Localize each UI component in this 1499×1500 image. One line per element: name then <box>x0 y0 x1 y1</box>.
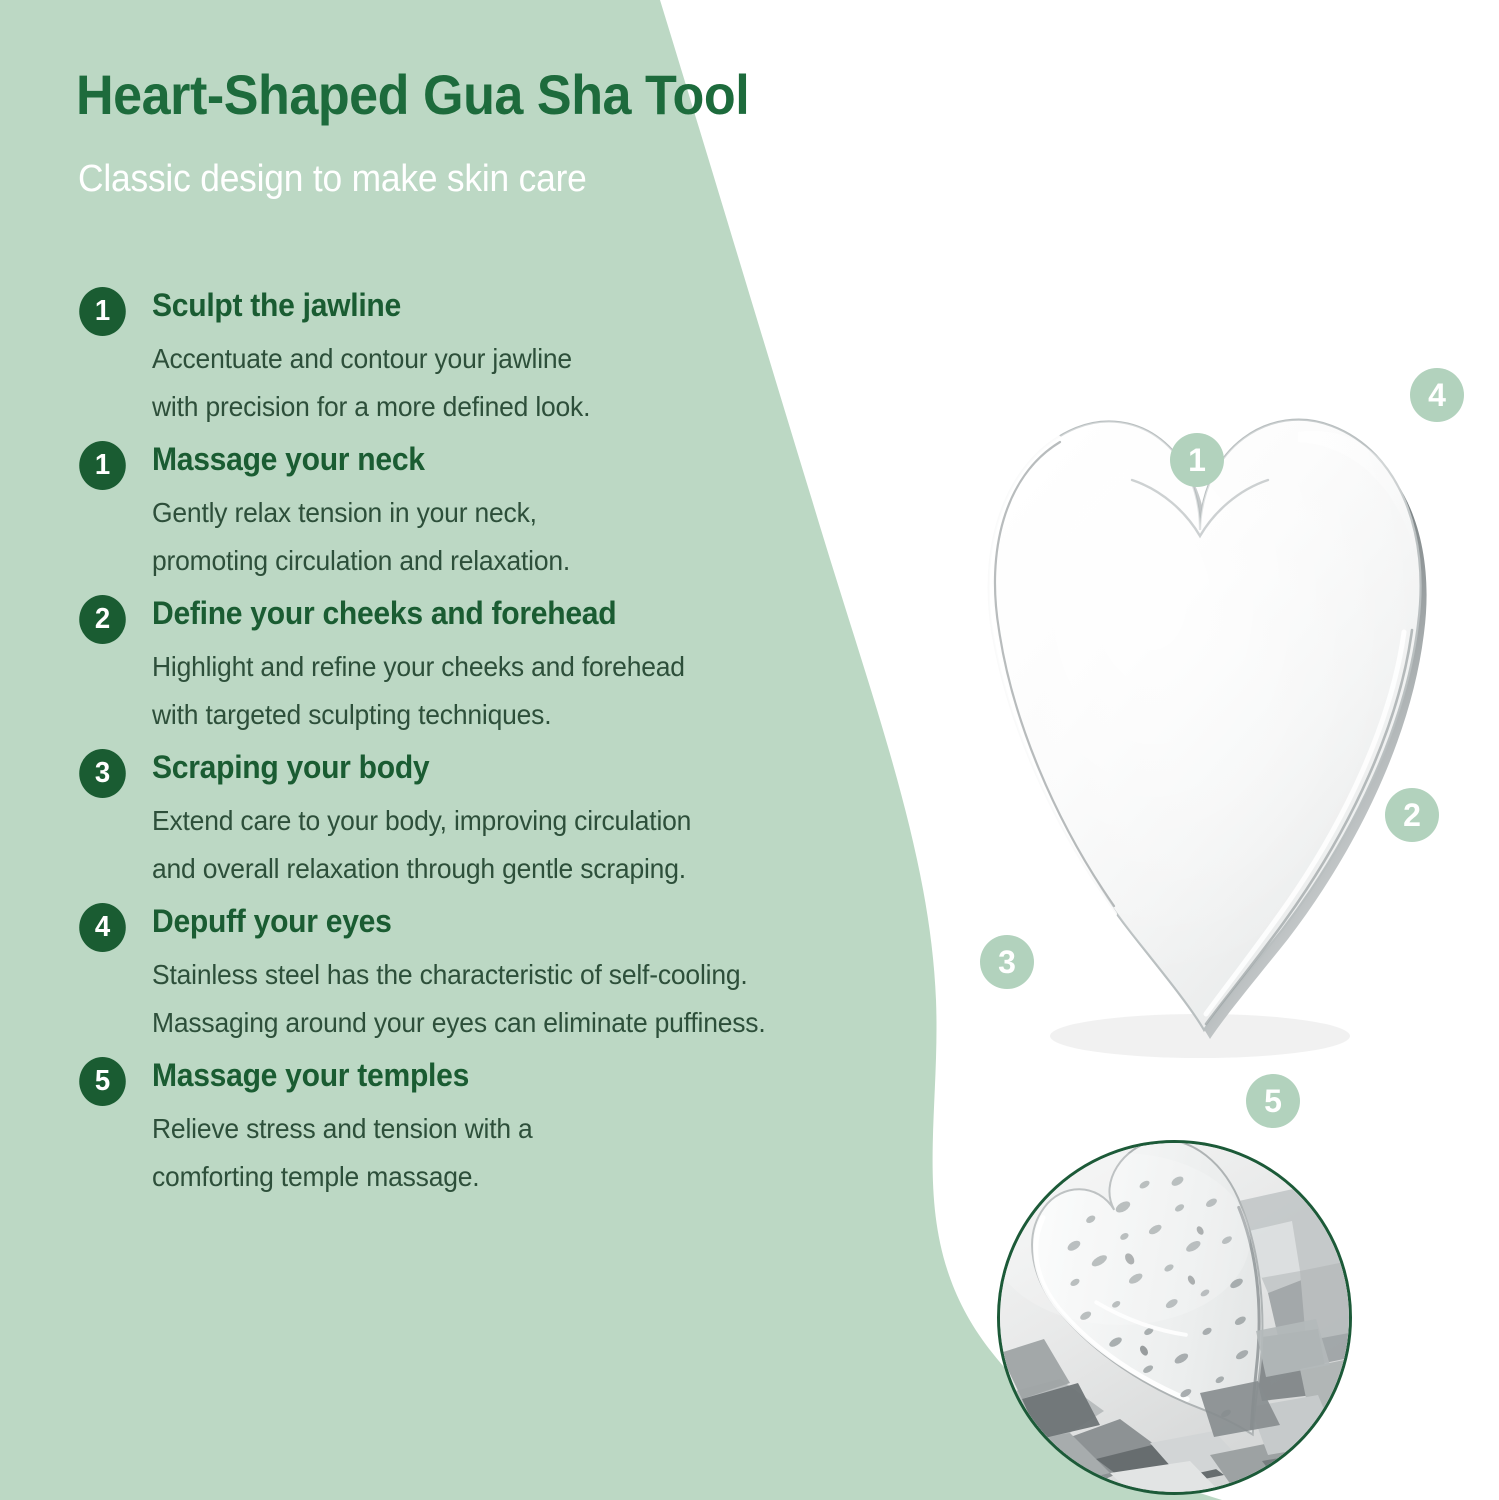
page-subtitle: Classic design to make skin care <box>78 158 587 201</box>
feature-body-3: Highlight and refine your cheeks and for… <box>152 643 887 739</box>
product-marker-5: 5 <box>1246 1074 1300 1128</box>
feature-body-line: Highlight and refine your cheeks and for… <box>152 643 887 691</box>
feature-badge-5: 4 <box>79 903 126 952</box>
feature-heading-4: Scraping your body <box>152 748 883 788</box>
text-column: Heart-Shaped Gua Sha Tool Classic design… <box>0 0 960 1500</box>
feature-body-line: comforting temple massage. <box>152 1153 887 1201</box>
feature-body-6: Relieve stress and tension with a comfor… <box>152 1105 887 1201</box>
feature-badge-6: 5 <box>79 1057 126 1106</box>
product-infographic: 1 2 3 4 5 <box>0 0 1499 1500</box>
feature-item-4: 3 Scraping your body Extend care to your… <box>0 748 930 893</box>
product-marker-4: 4 <box>1410 368 1464 422</box>
feature-item-5: 4 Depuff your eyes Stainless steel has t… <box>0 902 930 1047</box>
feature-body-line: Accentuate and contour your jawline <box>152 335 887 383</box>
feature-badge-2: 1 <box>79 441 126 490</box>
feature-body-5: Stainless steel has the characteristic o… <box>152 951 887 1047</box>
feature-body-4: Extend care to your body, improving circ… <box>152 797 887 893</box>
product-marker-1: 1 <box>1170 433 1224 487</box>
feature-body-1: Accentuate and contour your jawline with… <box>152 335 887 431</box>
feature-body-line: Stainless steel has the characteristic o… <box>152 951 887 999</box>
feature-body-line: with precision for a more defined look. <box>152 383 887 431</box>
feature-item-6: 5 Massage your temples Relieve stress an… <box>0 1056 930 1201</box>
feature-heading-3: Define your cheeks and forehead <box>152 594 883 634</box>
feature-badge-1: 1 <box>79 287 126 336</box>
ice-photo-graphic <box>1000 1143 1349 1492</box>
feature-body-line: Gently relax tension in your neck, <box>152 489 887 537</box>
feature-item-3: 2 Define your cheeks and forehead Highli… <box>0 594 930 739</box>
feature-item-1: 1 Sculpt the jawline Accentuate and cont… <box>0 286 930 431</box>
feature-body-line: promoting circulation and relaxation. <box>152 537 887 585</box>
gua-sha-on-ice-photo <box>997 1140 1352 1495</box>
product-marker-3: 3 <box>980 935 1034 989</box>
feature-heading-1: Sculpt the jawline <box>152 286 883 326</box>
feature-badge-4: 3 <box>79 749 126 798</box>
feature-body-line: Relieve stress and tension with a <box>152 1105 887 1153</box>
feature-body-line: with targeted sculpting techniques. <box>152 691 887 739</box>
feature-heading-2: Massage your neck <box>152 440 883 480</box>
feature-body-line: Extend care to your body, improving circ… <box>152 797 887 845</box>
feature-body-2: Gently relax tension in your neck, promo… <box>152 489 887 585</box>
feature-list: 1 Sculpt the jawline Accentuate and cont… <box>0 283 930 1210</box>
feature-item-2: 1 Massage your neck Gently relax tension… <box>0 440 930 585</box>
feature-body-line: Massaging around your eyes can eliminate… <box>152 999 887 1047</box>
product-marker-2: 2 <box>1385 788 1439 842</box>
feature-heading-6: Massage your temples <box>152 1056 883 1096</box>
feature-badge-3: 2 <box>79 595 126 644</box>
feature-heading-5: Depuff your eyes <box>152 902 883 942</box>
page-title: Heart-Shaped Gua Sha Tool <box>76 62 749 127</box>
feature-body-line: and overall relaxation through gentle sc… <box>152 845 887 893</box>
